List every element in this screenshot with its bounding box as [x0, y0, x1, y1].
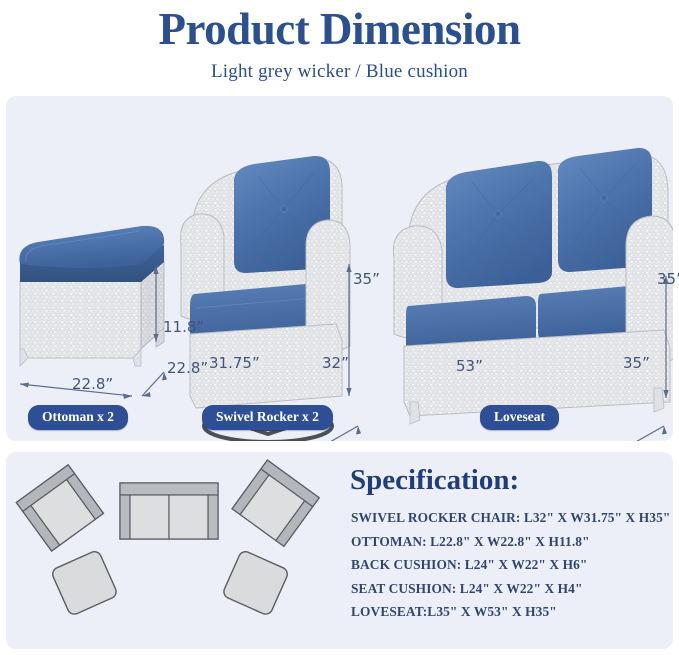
loveseat-width-label: 53”	[456, 357, 483, 375]
spec-line-seat-cushion: SEAT CUSHION: L24" X W22" X H4"	[351, 577, 670, 601]
spec-line-swivel-rocker: SWIVEL ROCKER CHAIR: L32" X W31.75" X H3…	[351, 506, 670, 530]
rocker-width-label: 31.75”	[209, 354, 260, 372]
ottoman-width-label: 22.8”	[72, 375, 113, 393]
badge-loveseat: Loveseat	[480, 405, 559, 430]
specification-heading: Specification:	[350, 464, 519, 497]
product-dimension-panel: 22.8” 22.8” 11.8” 31.75” 32” 35” 53” 35”…	[6, 96, 673, 441]
ottoman-depth-label: 22.8”	[167, 359, 208, 377]
floorplan-chair-left	[16, 465, 103, 551]
floorplan-diagram	[6, 452, 336, 649]
ottoman-height-label: 11.8”	[163, 318, 204, 336]
product-scene: 22.8” 22.8” 11.8” 31.75” 32” 35” 53” 35”…	[6, 96, 673, 441]
specification-list: SWIVEL ROCKER CHAIR: L32" X W31.75" X H3…	[351, 506, 670, 624]
spec-line-back-cushion: BACK CUSHION: L24" X W22" X H6"	[351, 553, 670, 577]
spec-line-ottoman: OTTOMAN: L22.8" X W22.8" X H11.8"	[351, 530, 670, 554]
loveseat-depth-label: 35”	[623, 354, 650, 372]
floorplan-chair-right	[232, 460, 319, 546]
specification-panel: Specification: SWIVEL ROCKER CHAIR: L32"…	[6, 452, 673, 649]
swivel-rocker-illustration	[181, 156, 361, 441]
badge-ottoman: Ottoman x 2	[28, 405, 128, 430]
rocker-height-label: 35”	[353, 270, 380, 288]
ottoman-illustration	[19, 226, 167, 399]
floorplan-ottoman-right	[222, 549, 290, 616]
loveseat-illustration	[393, 148, 673, 441]
page-subtitle: Light grey wicker / Blue cushion	[0, 54, 679, 84]
spec-line-loveseat: LOVESEAT:L35" X W53" X H35"	[351, 600, 670, 624]
loveseat-height-label: 35”	[657, 270, 679, 288]
page-title: Product Dimension	[0, 0, 679, 54]
rocker-depth-label: 32”	[322, 354, 349, 372]
floorplan-loveseat	[120, 483, 218, 539]
floorplan-ottoman-left	[50, 549, 118, 616]
badge-swivel-rocker: Swivel Rocker x 2	[202, 405, 333, 430]
